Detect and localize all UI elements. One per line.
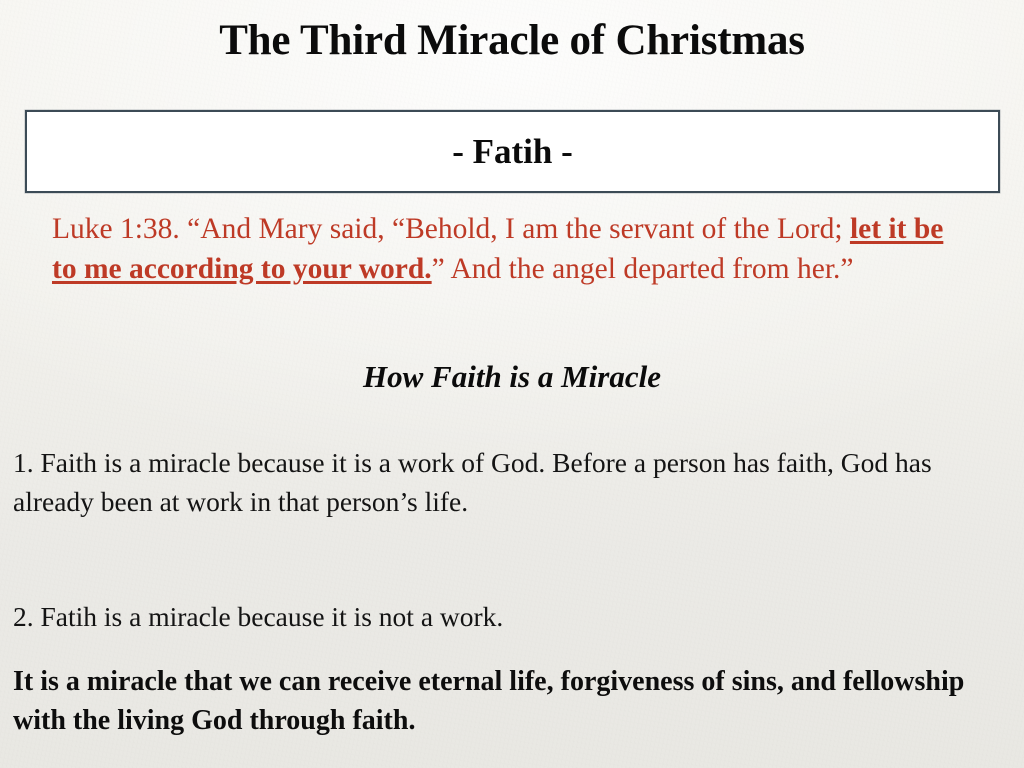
slide-content: The Third Miracle of Christmas - Fatih -…: [0, 0, 1024, 768]
scripture-opening: Luke 1:38. “And Mary said, “Behold, I am…: [52, 213, 850, 245]
scripture-verse: Luke 1:38. “And Mary said, “Behold, I am…: [52, 210, 952, 289]
closing-statement: It is a miracle that we can receive eter…: [13, 662, 1019, 740]
subtitle-box: - Fatih -: [25, 110, 1000, 193]
subtitle-box-text: - Fatih -: [452, 134, 573, 169]
section-subheading: How Faith is a Miracle: [0, 360, 1024, 394]
body-point-1: 1. Faith is a miracle because it is a wo…: [13, 443, 973, 521]
scripture-closing: ” And the angel departed from her.”: [432, 253, 854, 285]
body-point-2: 2. Fatih is a miracle because it is not …: [13, 597, 1003, 636]
page-title: The Third Miracle of Christmas: [0, 18, 1024, 63]
